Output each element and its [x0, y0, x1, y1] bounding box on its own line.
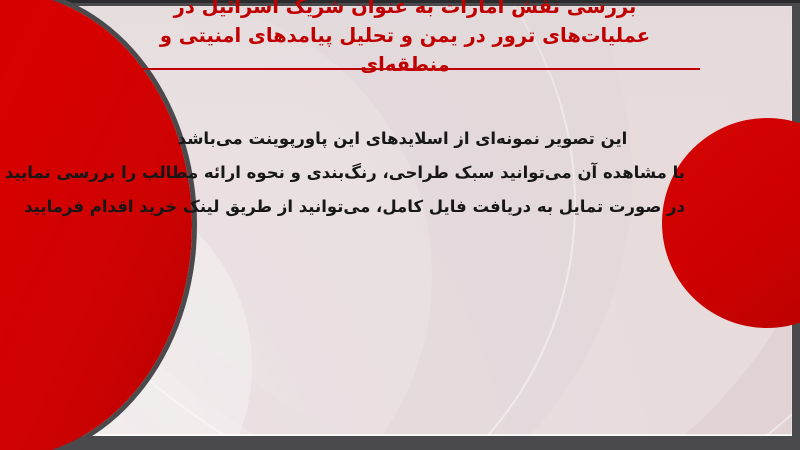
slide-title: بررسی نقش امارات به عنوان شریک اسرائیل د… [120, 0, 690, 79]
title-line-2: عملیات‌های ترور در یمن و تحلیل پیامدهای … [120, 21, 690, 50]
slide-body-text: این تصویر نمونه‌ای از اسلایدهای این پاور… [120, 122, 685, 224]
body-line-2: با مشاهده آن می‌توانید سبک طراحی، رنگ‌بن… [120, 156, 685, 190]
body-line-3: در صورت تمایل به دریافت فایل کامل، می‌تو… [120, 190, 685, 224]
panel-bottom-edge [60, 434, 792, 436]
body-line-1: این تصویر نمونه‌ای از اسلایدهای این پاور… [120, 122, 685, 156]
title-line-3: منطقه‌ای [120, 50, 690, 79]
title-line-1: بررسی نقش امارات به عنوان شریک اسرائیل د… [120, 0, 690, 21]
title-underline-rule [140, 68, 700, 70]
presentation-slide: بررسی نقش امارات به عنوان شریک اسرائیل د… [0, 0, 800, 450]
